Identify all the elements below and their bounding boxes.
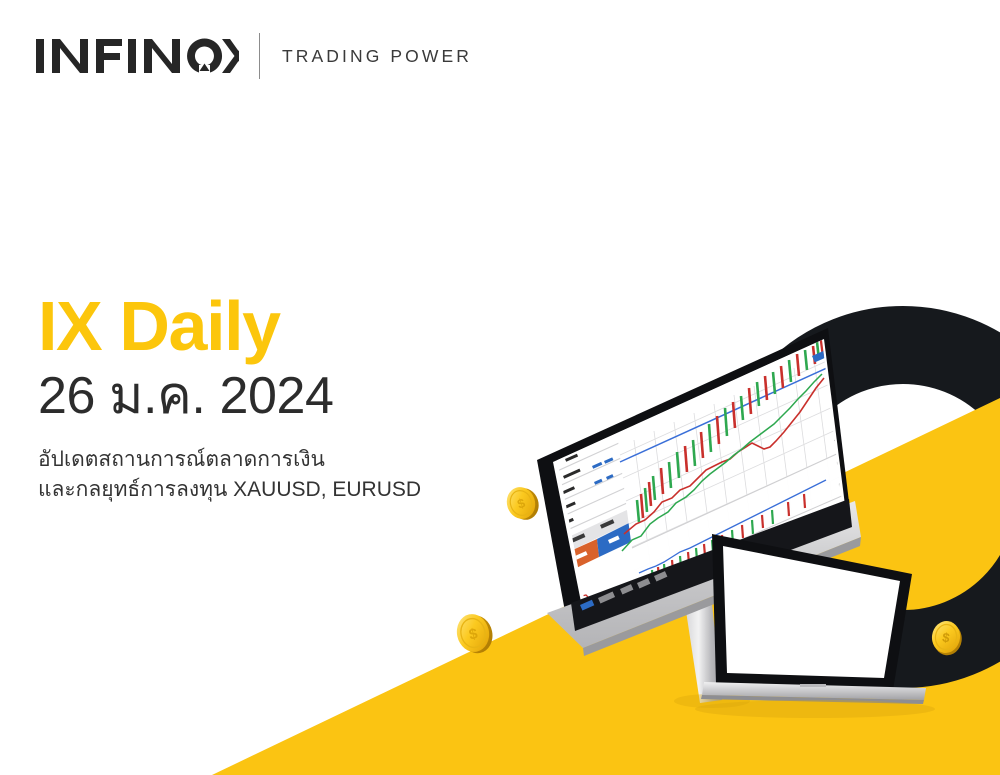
subtitle: อัปเดตสถานการณ์ตลาดการเงิน และกลยุทธ์การ… (38, 445, 421, 505)
gold-coin-left: $ (503, 483, 543, 525)
brand-logo: TRADING POWER (36, 33, 472, 79)
infinox-wordmark (36, 37, 239, 75)
gold-coin-right: $ (930, 619, 964, 657)
subtitle-line-2: และกลยุทธ์การลงทุน XAUUSD, EURUSD (38, 475, 421, 505)
logo-tagline: TRADING POWER (282, 46, 472, 67)
headline-block: IX Daily 26 ม.ค. 2024 อัปเดตสถานการณ์ตลา… (38, 292, 421, 504)
logo-divider (259, 33, 260, 79)
page-title: IX Daily (38, 292, 421, 361)
poster-canvas: TRADING POWER IX Daily 26 ม.ค. 2024 อัปเ… (0, 0, 1000, 775)
issue-date: 26 ม.ค. 2024 (38, 368, 421, 424)
subtitle-line-1: อัปเดตสถานการณ์ตลาดการเงิน (38, 445, 421, 475)
gold-coin-lower-left: $ (453, 610, 496, 656)
